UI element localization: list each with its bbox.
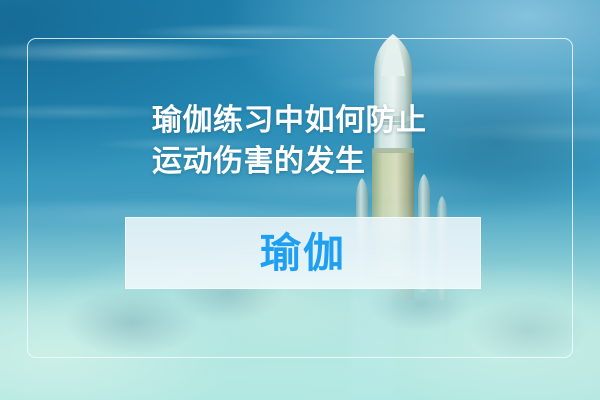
cover-image-canvas: 瑜伽练习中如何防止 运动伤害的发生 瑜伽 (0, 0, 600, 400)
tag-bar[interactable]: 瑜伽 (125, 217, 481, 289)
tag-bar-label: 瑜伽 (260, 233, 346, 274)
headline: 瑜伽练习中如何防止 运动伤害的发生 (152, 100, 452, 182)
headline-line-2: 运动伤害的发生 (152, 141, 452, 182)
headline-line-1: 瑜伽练习中如何防止 (152, 100, 452, 141)
